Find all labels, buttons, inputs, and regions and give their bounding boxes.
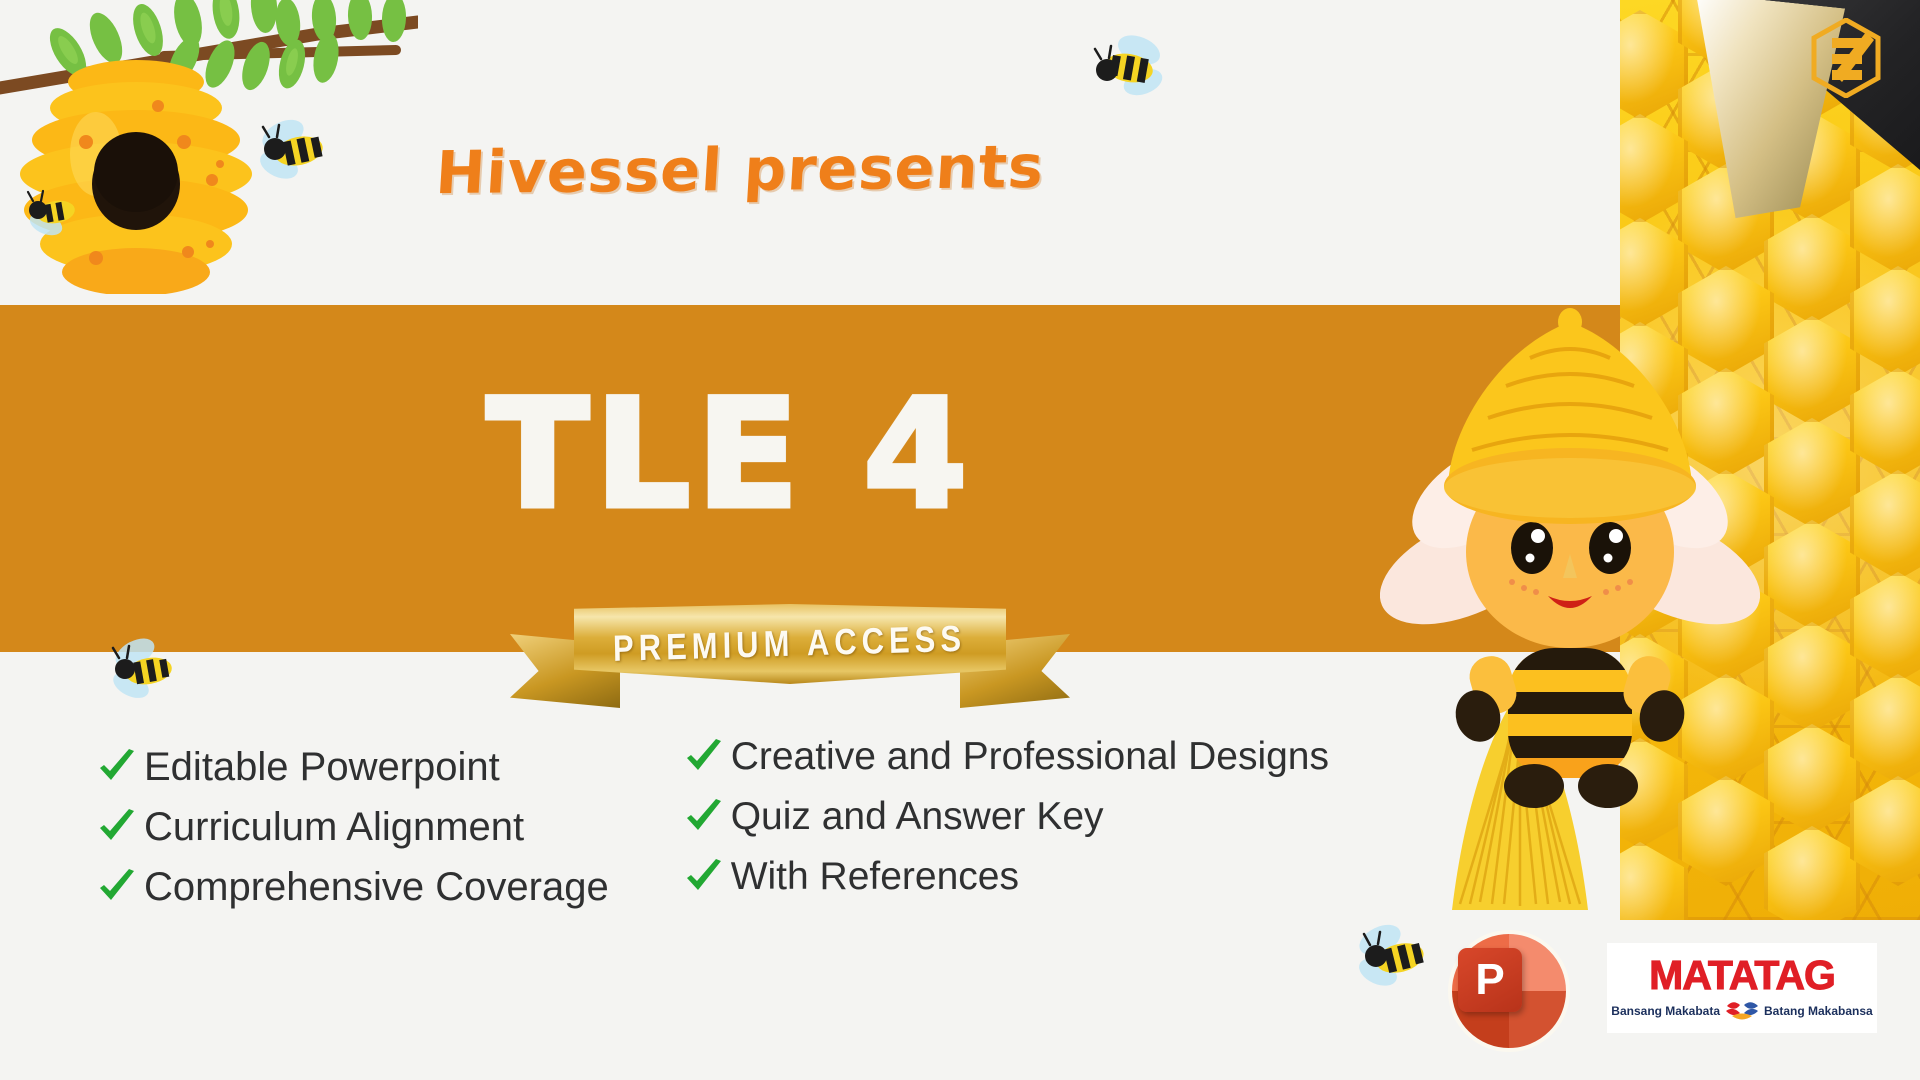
presents-headline: Hivessel presents <box>428 132 1053 207</box>
list-item: Comprehensive Coverage <box>96 865 609 909</box>
feature-column-left: Editable Powerpoint Curriculum Alignment… <box>96 735 609 909</box>
hexagon-s-logo-icon <box>1810 18 1882 98</box>
bee-icon <box>1352 920 1436 994</box>
bee-icon <box>255 115 335 185</box>
powerpoint-icon: P <box>1448 930 1570 1052</box>
feature-label: Comprehensive Coverage <box>144 865 609 909</box>
status-badge: PREMIUM ACCESS <box>613 618 967 671</box>
check-icon <box>683 736 725 778</box>
check-icon <box>683 856 725 898</box>
beehive-icon <box>20 60 252 294</box>
feature-column-right: Creative and Professional Designs Quiz a… <box>683 735 1283 909</box>
check-icon <box>96 746 138 788</box>
clasped-hands-icon <box>1725 999 1759 1023</box>
list-item: Creative and Professional Designs <box>683 735 1283 779</box>
feature-label: Curriculum Alignment <box>144 805 524 849</box>
check-icon <box>96 866 138 908</box>
matatag-tagline-right: Batang Makabansa <box>1764 1005 1873 1018</box>
bee-mascot-icon <box>1380 300 1760 820</box>
premium-access-ribbon: PREMIUM ACCESS <box>510 600 1070 720</box>
list-item: Editable Powerpoint <box>96 745 609 789</box>
matatag-tagline-left: Bansang Makabata <box>1611 1005 1720 1018</box>
page-title: TLE 4 <box>420 380 1040 530</box>
matatag-logo: MATATAG Bansang Makabata Batang Makabans… <box>1607 943 1877 1033</box>
check-icon <box>683 796 725 838</box>
matatag-wordmark: MATATAG <box>1649 955 1835 996</box>
matatag-tagline: Bansang Makabata Batang Makabansa <box>1611 999 1872 1023</box>
ribbon-banner: PREMIUM ACCESS <box>574 604 1006 684</box>
slide-canvas: Hivessel presents TLE 4 PREMIUM ACCESS E… <box>0 0 1920 1080</box>
feature-label: With References <box>731 855 1019 899</box>
powerpoint-tile: P <box>1458 948 1522 1012</box>
bee-icon <box>105 635 185 707</box>
feature-label: Editable Powerpoint <box>144 745 500 789</box>
list-item: With References <box>683 855 1283 899</box>
feature-label: Creative and Professional Designs <box>731 735 1329 779</box>
feature-list: Editable Powerpoint Curriculum Alignment… <box>96 735 1276 909</box>
bee-icon <box>20 180 86 242</box>
leafy-branch-icon <box>0 0 418 294</box>
check-icon <box>96 806 138 848</box>
list-item: Quiz and Answer Key <box>683 795 1283 839</box>
bee-icon <box>1085 32 1171 104</box>
list-item: Curriculum Alignment <box>96 805 609 849</box>
feature-label: Quiz and Answer Key <box>731 795 1104 839</box>
